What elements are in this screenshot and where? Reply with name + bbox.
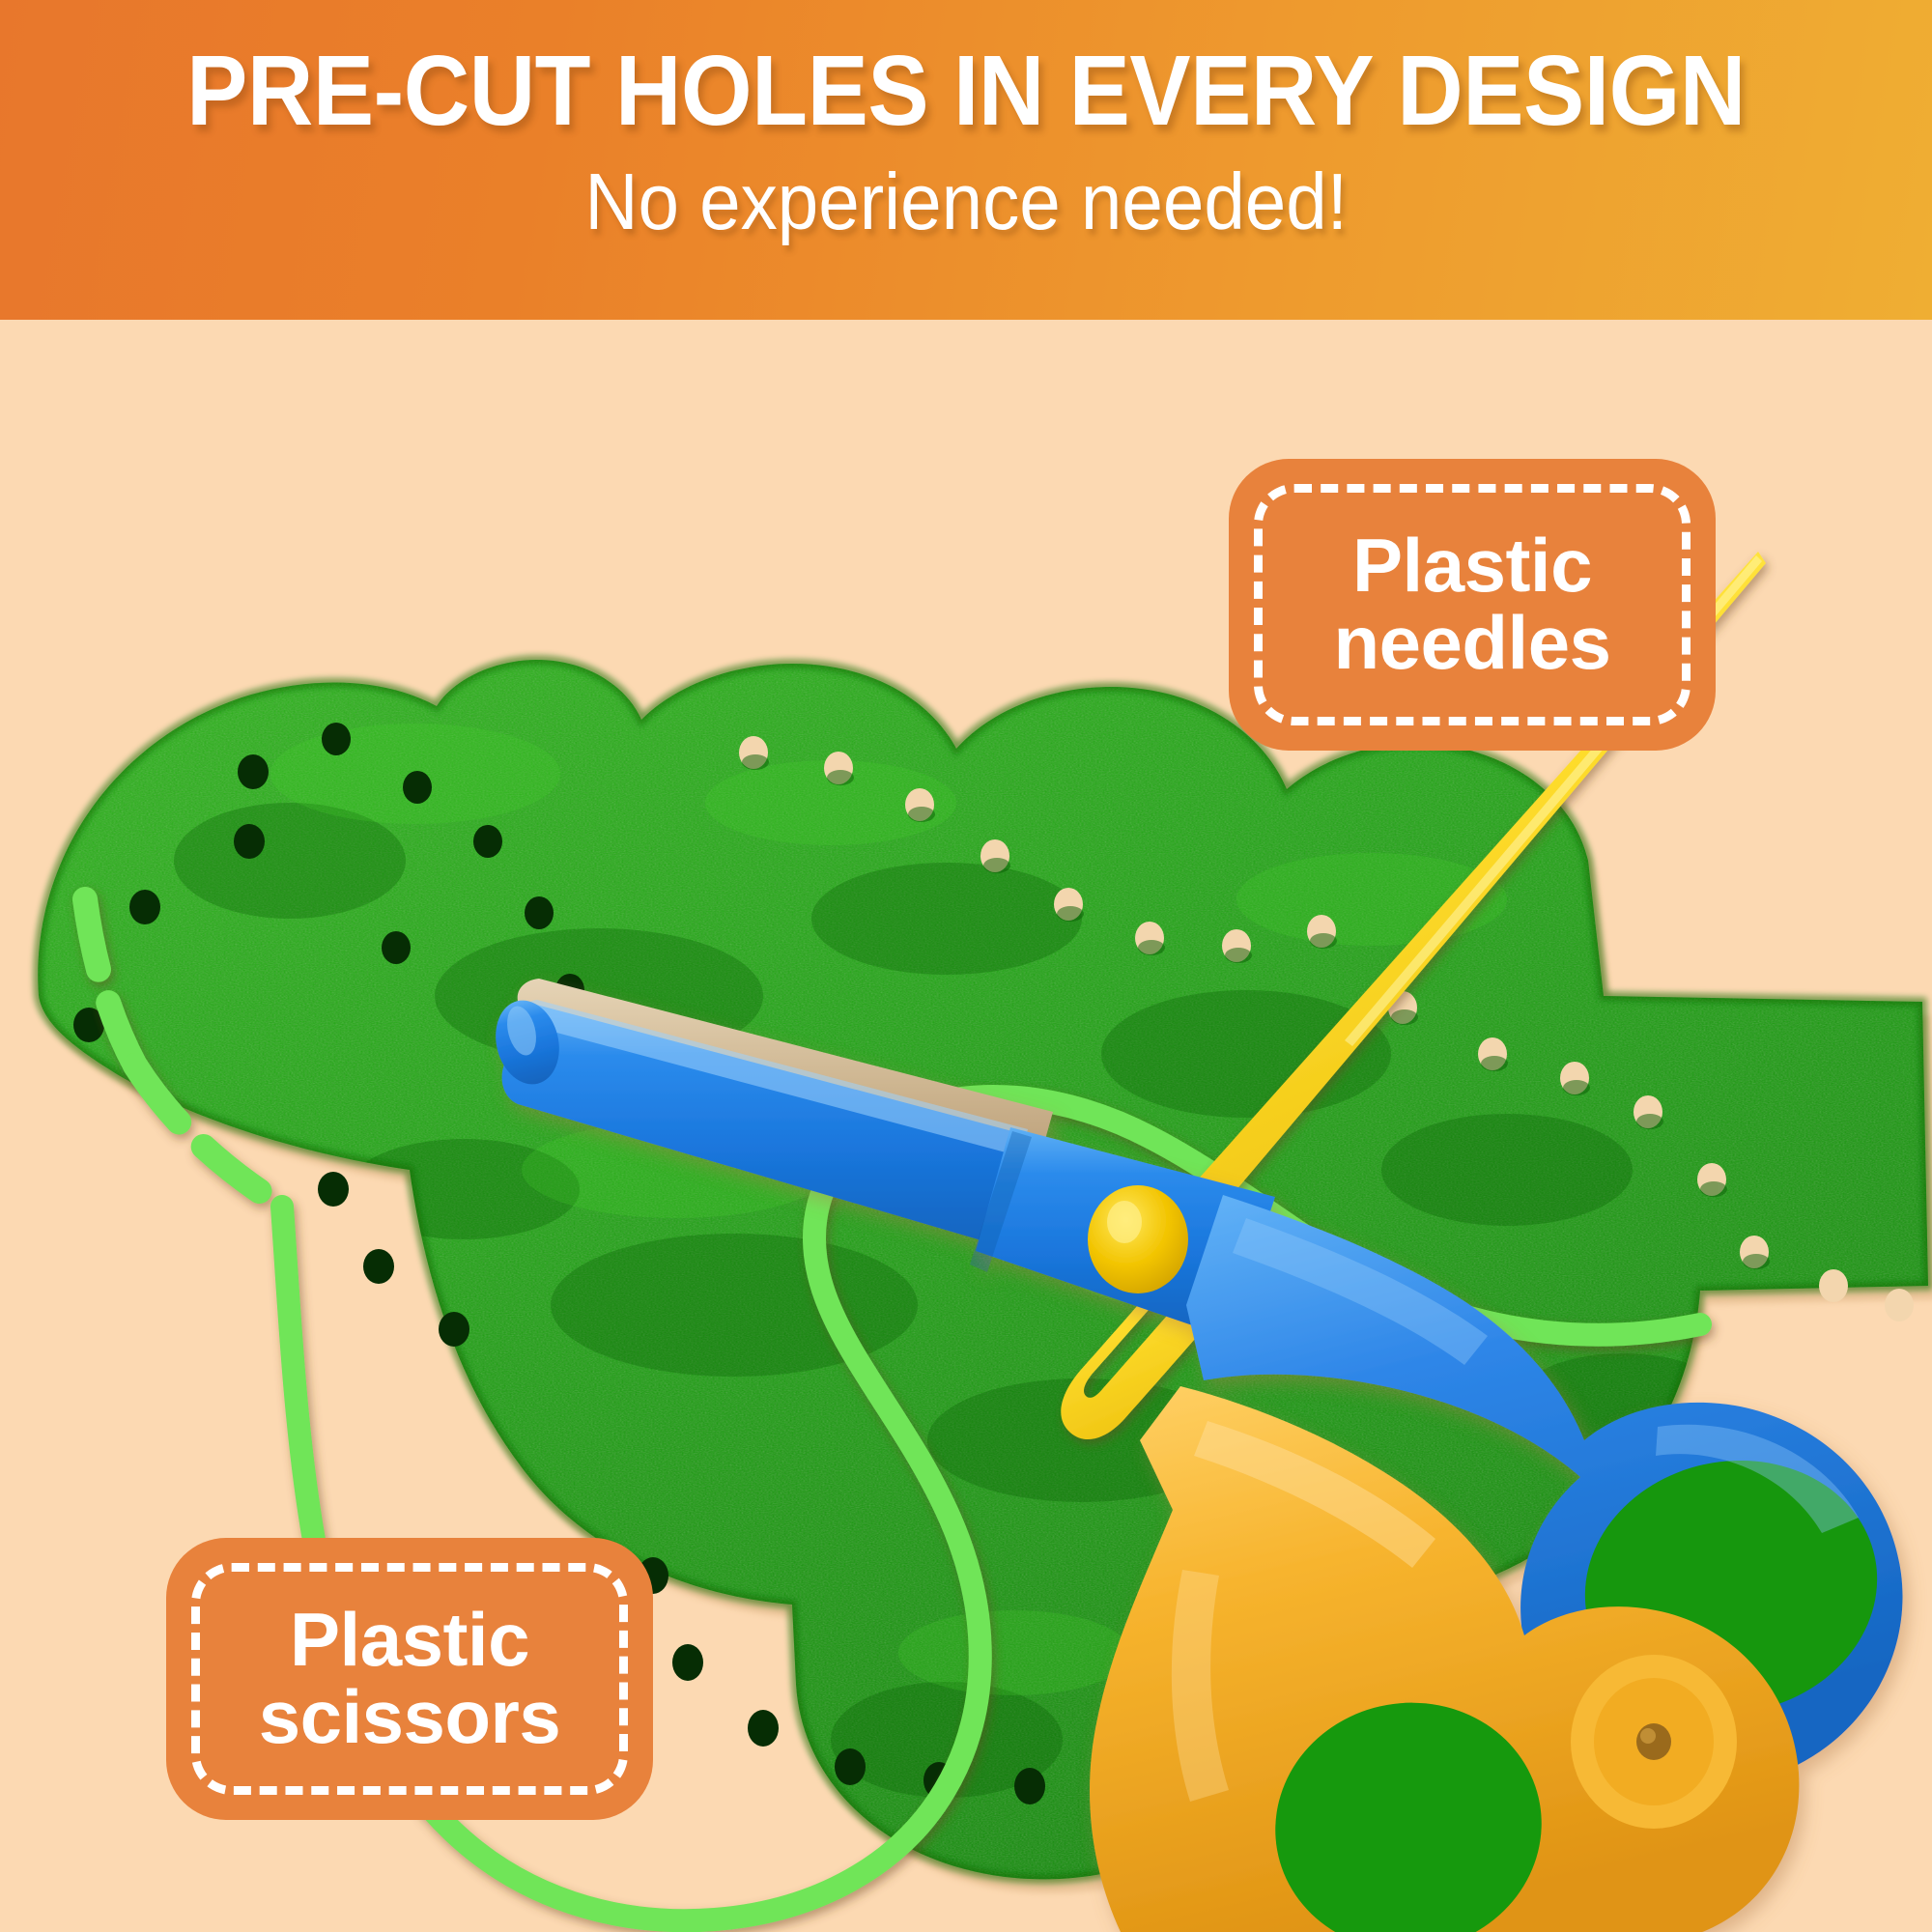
- banner-headline: PRE-CUT HOLES IN EVERY DESIGN: [186, 41, 1746, 140]
- callout-plastic-scissors: Plastic scissors: [166, 1538, 653, 1820]
- product-graphic: PRE-CUT HOLES IN EVERY DESIGN No experie…: [0, 0, 1932, 1932]
- callout-plastic-needles: Plastic needles: [1229, 459, 1716, 751]
- header-banner: PRE-CUT HOLES IN EVERY DESIGN No experie…: [0, 0, 1932, 320]
- scissors-pivot-button: [1088, 1185, 1188, 1293]
- callout-scissors-line1: Plastic: [259, 1602, 561, 1679]
- callout-scissors-text: Plastic scissors: [226, 1602, 594, 1755]
- callout-scissors-line2: scissors: [259, 1679, 561, 1756]
- callout-needles-line1: Plastic: [1334, 527, 1611, 605]
- banner-subheadline: No experience needed!: [584, 161, 1348, 241]
- callout-needles-text: Plastic needles: [1301, 527, 1644, 681]
- callout-needles-line2: needles: [1334, 605, 1611, 682]
- scissors-screw: [1571, 1655, 1737, 1829]
